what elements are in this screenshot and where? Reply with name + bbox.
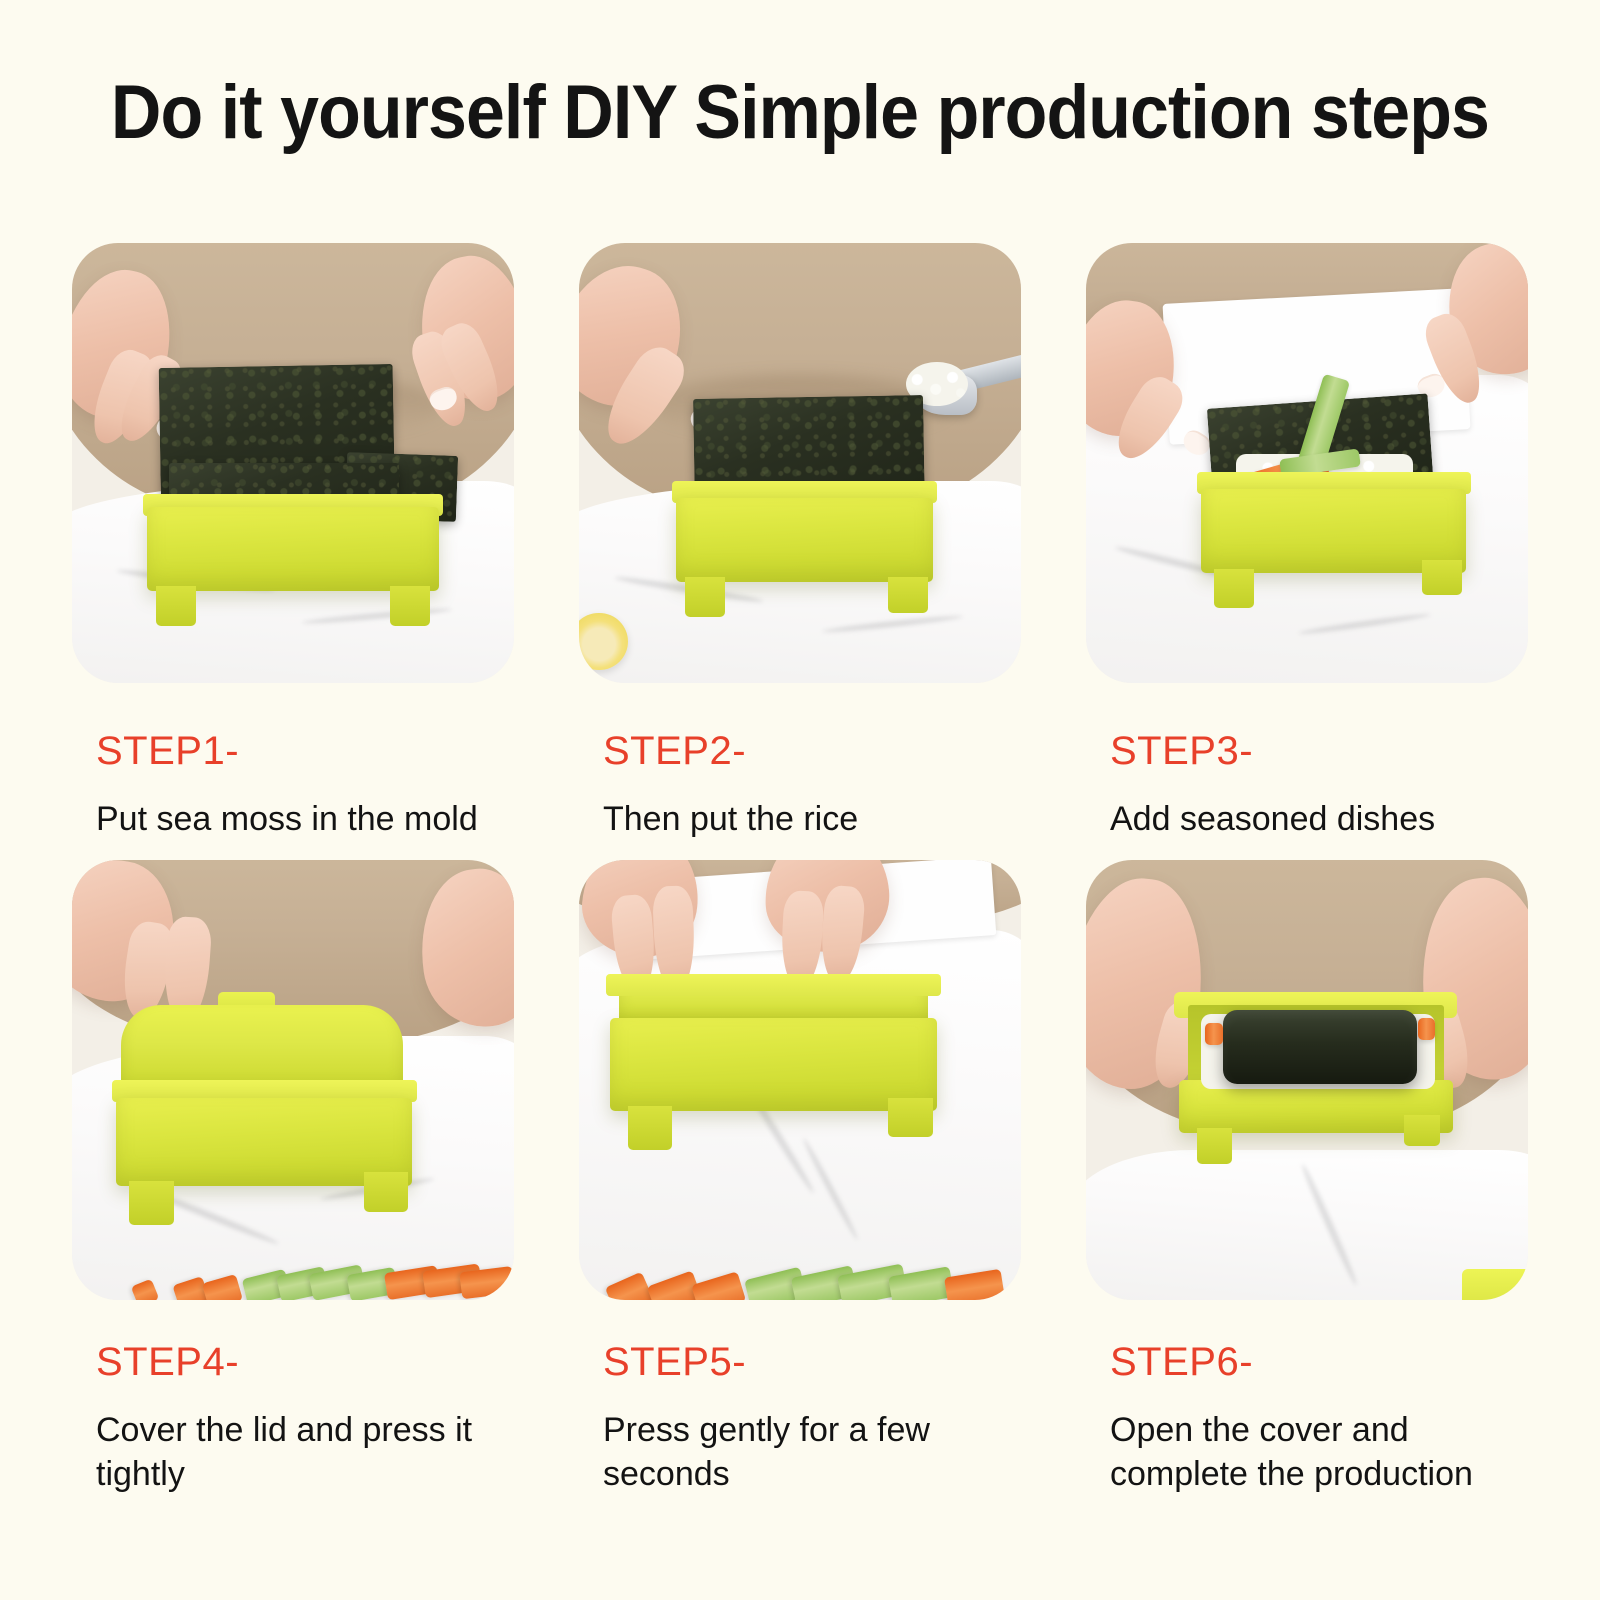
step-card-6: STEP6- Open the cover and complete the p… [1086, 860, 1528, 1496]
step-card-2: STEP2- Then put the rice [579, 243, 1021, 841]
step-label-2: STEP2- [603, 727, 1021, 775]
steps-grid: STEP1- Put sea moss in the mold [72, 243, 1528, 1496]
step-description-6: Open the cover and complete the producti… [1110, 1408, 1528, 1496]
step-caption-2: STEP2- Then put the rice [579, 727, 1021, 841]
infographic-page: Do it yourself DIY Simple production ste… [0, 0, 1600, 1600]
step-label-4: STEP4- [96, 1338, 514, 1386]
step-description-1: Put sea moss in the mold [96, 797, 514, 841]
step-photo-6 [1086, 860, 1528, 1300]
step-description-4: Cover the lid and press it tightly [96, 1408, 514, 1496]
step-card-4: STEP4- Cover the lid and press it tightl… [72, 860, 514, 1496]
step-photo-4 [72, 860, 514, 1300]
page-title-text: Do it yourself DIY Simple production ste… [111, 72, 1489, 154]
step-caption-5: STEP5- Press gently for a few seconds [579, 1338, 1021, 1496]
step-caption-1: STEP1- Put sea moss in the mold [72, 727, 514, 841]
step-photo-3 [1086, 243, 1528, 683]
step-label-3: STEP3- [1110, 727, 1528, 775]
step-card-3: STEP3- Add seasoned dishes [1086, 243, 1528, 841]
step-label-5: STEP5- [603, 1338, 1021, 1386]
step-caption-4: STEP4- Cover the lid and press it tightl… [72, 1338, 514, 1496]
step-caption-6: STEP6- Open the cover and complete the p… [1086, 1338, 1528, 1496]
step-card-5: STEP5- Press gently for a few seconds [579, 860, 1021, 1496]
step-description-3: Add seasoned dishes [1110, 797, 1528, 841]
step-label-6: STEP6- [1110, 1338, 1528, 1386]
step-description-2: Then put the rice [603, 797, 1021, 841]
step-caption-3: STEP3- Add seasoned dishes [1086, 727, 1528, 841]
step-label-1: STEP1- [96, 727, 514, 775]
step-photo-1 [72, 243, 514, 683]
step-card-1: STEP1- Put sea moss in the mold [72, 243, 514, 841]
step-description-5: Press gently for a few seconds [603, 1408, 1021, 1496]
step-photo-5 [579, 860, 1021, 1300]
page-title: Do it yourself DIY Simple production ste… [0, 72, 1600, 154]
step-photo-2 [579, 243, 1021, 683]
